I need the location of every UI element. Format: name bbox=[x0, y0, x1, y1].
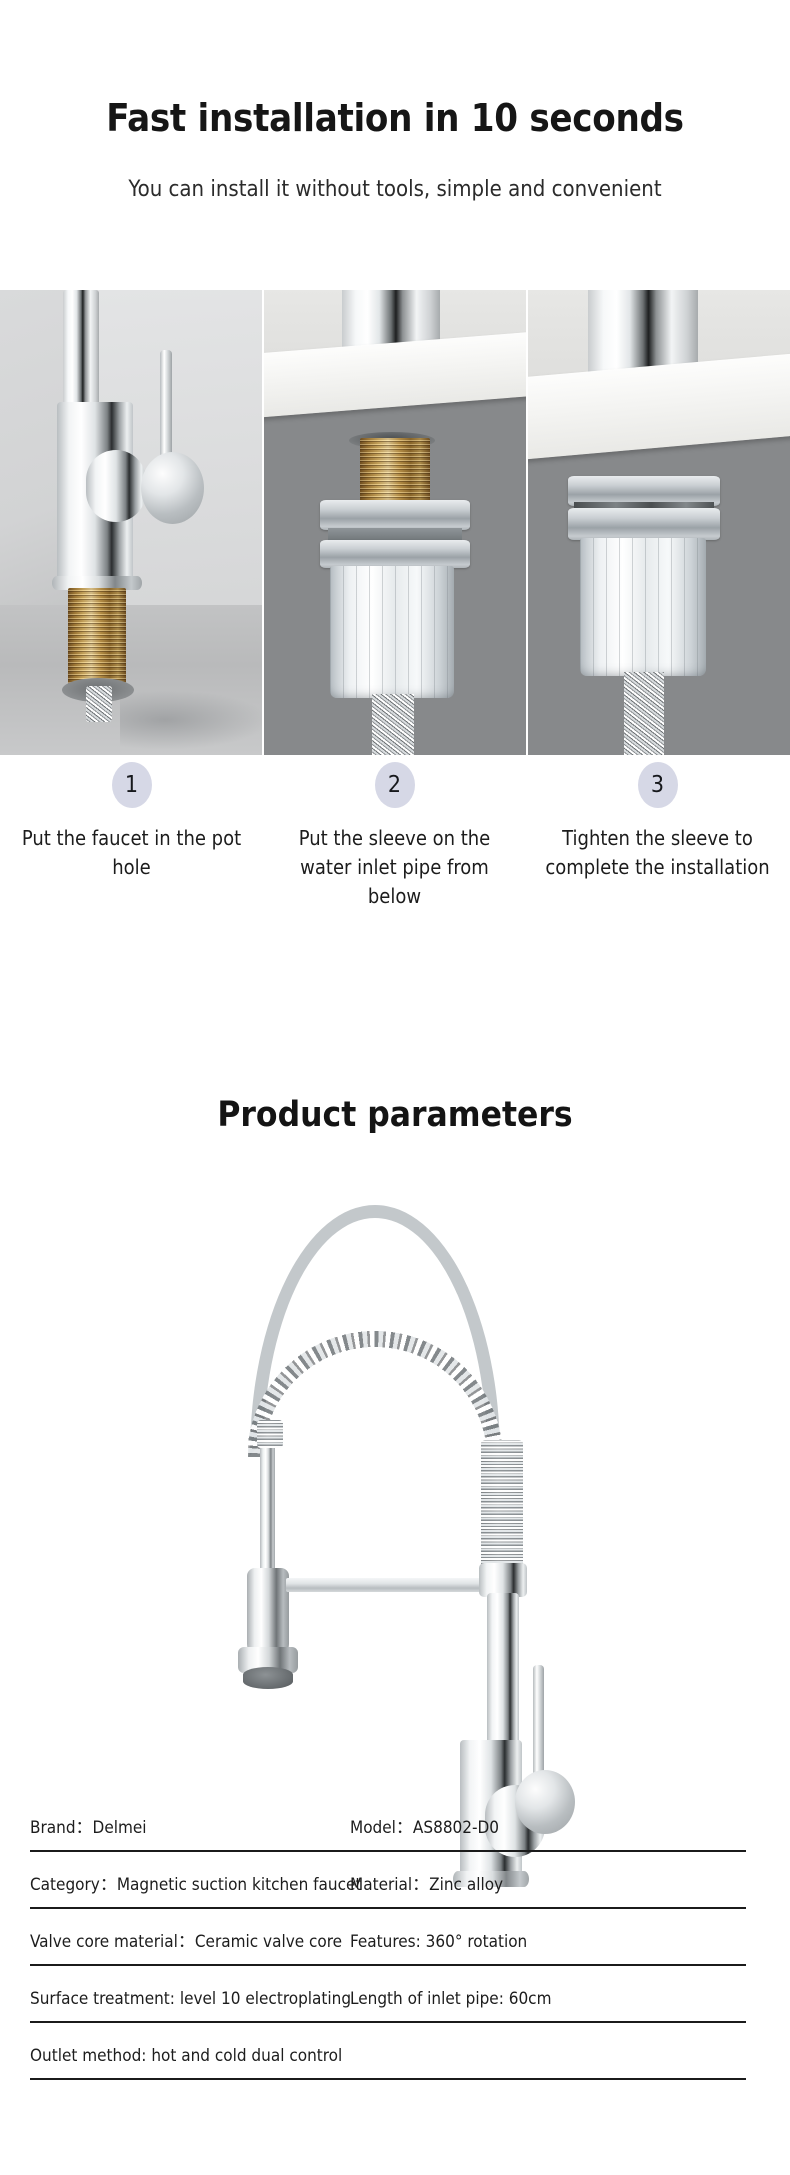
install-section-title: Fast installation in 10 seconds bbox=[0, 96, 790, 140]
photo1-spout-elbow bbox=[86, 450, 146, 522]
install-photo-1 bbox=[0, 290, 262, 755]
step-2: 2 Put the sleeve on the water inlet pipe… bbox=[263, 762, 526, 911]
table-row: Surface treatment: level 10 electroplati… bbox=[30, 1966, 746, 2023]
spec-cell-material: Material：Zinc alloy bbox=[350, 1870, 746, 1907]
photo1-shadow bbox=[120, 690, 262, 750]
step-3: 3 Tighten the sleeve to complete the ins… bbox=[526, 762, 789, 911]
hero-aerator bbox=[243, 1667, 293, 1689]
table-row: Brand：Delmei Model：AS8802-D0 bbox=[30, 1795, 746, 1852]
hero-spray-head bbox=[247, 1568, 289, 1658]
table-row: Outlet method: hot and cold dual control bbox=[30, 2023, 746, 2080]
step-caption: Tighten the sleeve to complete the insta… bbox=[544, 824, 772, 882]
photo1-inlet-hose bbox=[86, 686, 112, 722]
step-number-badge: 1 bbox=[112, 762, 152, 808]
photo2-upper-flange bbox=[320, 500, 470, 530]
hero-handle-lever bbox=[533, 1665, 544, 1780]
spec-cell-features: Features: 360° rotation bbox=[350, 1932, 746, 1964]
spec-cell-brand: Brand：Delmei bbox=[30, 1813, 350, 1850]
spec-cell-valve-core: Valve core material：Ceramic valve core bbox=[30, 1927, 350, 1964]
installation-steps: 1 Put the faucet in the pot hole 2 Put t… bbox=[0, 762, 790, 911]
photo2-white-sleeve bbox=[330, 566, 454, 698]
hero-spring-coil bbox=[248, 1203, 502, 1459]
photo2-brass-shank bbox=[360, 438, 430, 506]
hero-tube-collar bbox=[257, 1420, 283, 1448]
product-detail-page: Fast installation in 10 seconds You can … bbox=[0, 0, 790, 2175]
photo1-handle-lever bbox=[160, 350, 172, 460]
table-row: Valve core material：Ceramic valve core F… bbox=[30, 1909, 746, 1966]
table-row: Category：Magnetic suction kitchen faucet… bbox=[30, 1852, 746, 1909]
hero-coil-joint bbox=[479, 1563, 527, 1597]
hero-column bbox=[487, 1593, 519, 1753]
photo1-brass-shank bbox=[68, 588, 126, 684]
step-number-badge: 3 bbox=[638, 762, 678, 808]
spec-cell-inlet-pipe-length: Length of inlet pipe: 60cm bbox=[350, 1989, 746, 2021]
install-photo-3 bbox=[528, 290, 790, 755]
hero-support-bar bbox=[286, 1578, 496, 1592]
product-parameters-title: Product parameters bbox=[0, 1095, 790, 1135]
step-caption: Put the faucet in the pot hole bbox=[18, 824, 246, 882]
spec-cell-model: Model：AS8802-D0 bbox=[350, 1813, 746, 1850]
spec-cell-outlet-method: Outlet method: hot and cold dual control bbox=[30, 2046, 746, 2078]
product-hero-image bbox=[0, 1185, 790, 1785]
photo3-lower-flange bbox=[568, 508, 720, 540]
photo3-inlet-hose bbox=[624, 672, 664, 755]
photo2-inlet-hose bbox=[372, 694, 414, 755]
photo3-white-sleeve bbox=[580, 538, 706, 676]
hero-spray-tube bbox=[260, 1430, 275, 1575]
step-number-badge: 2 bbox=[375, 762, 415, 808]
spec-cell-surface-treatment: Surface treatment: level 10 electroplati… bbox=[30, 1989, 350, 2021]
spec-cell-category: Category：Magnetic suction kitchen faucet bbox=[30, 1870, 350, 1907]
photo1-handle-knob bbox=[141, 452, 204, 524]
photo1-riser-tube bbox=[63, 290, 99, 410]
installation-photo-strip bbox=[0, 290, 790, 755]
step-caption: Put the sleeve on the water inlet pipe f… bbox=[281, 824, 509, 911]
install-photo-2 bbox=[264, 290, 526, 755]
photo2-lower-flange bbox=[320, 540, 470, 568]
product-spec-table: Brand：Delmei Model：AS8802-D0 Category：Ma… bbox=[30, 1795, 746, 2080]
step-1: 1 Put the faucet in the pot hole bbox=[0, 762, 263, 911]
install-section-subtitle: You can install it without tools, simple… bbox=[0, 177, 790, 202]
